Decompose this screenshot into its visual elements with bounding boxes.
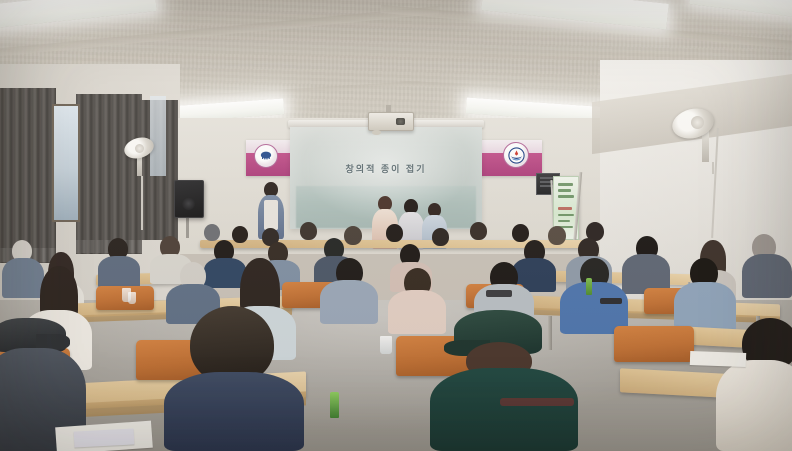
speaker-stand [186,216,189,238]
phone [600,298,622,304]
window [52,104,80,222]
speaker-cone-icon [182,197,195,210]
smoke-detector-icon [372,130,381,135]
cup [128,292,136,304]
paper-sheet [690,351,746,367]
wall-fan-right-hub [691,116,704,129]
wall-fan-left-hub [135,144,144,153]
glue-stick [330,392,339,418]
window-secondary [150,96,166,176]
association-emblem-icon [503,142,529,168]
wall-fan-left-cord [141,176,143,230]
organization-emblem-icon [254,144,278,168]
glue-stick [586,278,592,295]
projected-slide-title: 창의적 종이 접기 [290,160,482,176]
phone [486,290,512,297]
person-body [430,368,578,451]
seminar-room-photo: 2025년 ··· 화 세미나 창의적 종이 접기 [0,0,792,451]
projector-lens-icon [396,118,405,125]
person-body [716,360,792,451]
shirt-stripe [500,398,574,406]
paper-sheet [74,428,135,447]
person-body [164,372,304,451]
ceiling-projector-icon [368,112,414,131]
cup [380,336,392,354]
